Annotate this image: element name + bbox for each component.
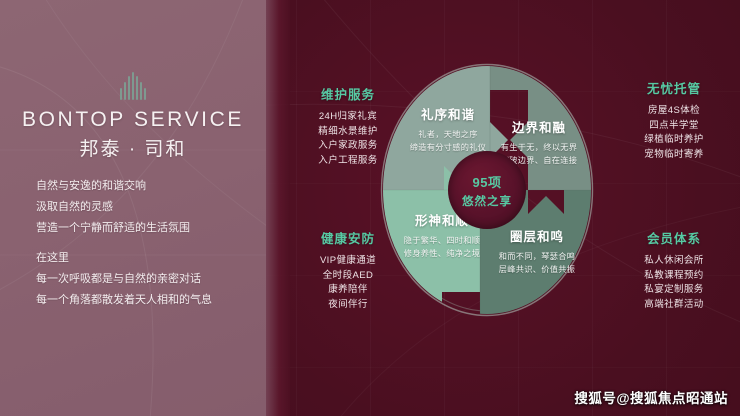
core-label: 悠然之享 bbox=[462, 193, 512, 209]
lead-paragraph: 自然与安逸的和谐交响 汲取自然的灵感 营造一个宁静而舒适的生活氛围 在这里 每一… bbox=[36, 176, 251, 311]
left-title-panel: BONTOP SERVICE 邦泰 · 司和 自然与安逸的和谐交响 汲取自然的灵… bbox=[0, 0, 266, 416]
pinwheel-diagram: 礼序和谐 礼者，天地之序 缔造有分寸感的礼仪 边界和融 有生于无，终以无界 打破… bbox=[378, 62, 596, 318]
bontop-bars-logo-icon bbox=[120, 72, 146, 100]
lead-spacer bbox=[36, 239, 251, 248]
service-item: 四点半学堂 bbox=[622, 119, 726, 134]
lead-line: 营造一个宁静而舒适的生活氛围 bbox=[36, 218, 251, 239]
lead-line: 每一次呼吸都是与自然的亲密对话 bbox=[36, 269, 251, 290]
service-item: 房屋4S体检 bbox=[622, 104, 726, 119]
service-group-wuyou: 无忧托管 房屋4S体检 四点半学堂 绿植临时养护 宠物临时寄养 bbox=[622, 78, 726, 162]
lead-line: 在这里 bbox=[36, 248, 251, 269]
slide-canvas: BONTOP SERVICE 邦泰 · 司和 自然与安逸的和谐交响 汲取自然的灵… bbox=[0, 0, 740, 416]
panel-seam-divider bbox=[266, 0, 290, 416]
watermark-text: 搜狐号@搜狐焦点昭通站 bbox=[574, 387, 728, 407]
lead-line: 汲取自然的灵感 bbox=[36, 197, 251, 218]
brand-title-cn: 邦泰 · 司和 bbox=[0, 134, 266, 161]
service-item: 私人休闲会所 bbox=[622, 254, 726, 269]
service-item: 私宴定制服务 bbox=[622, 283, 726, 298]
service-item: 私教课程预约 bbox=[622, 269, 726, 284]
service-group-title: 会员体系 bbox=[622, 228, 726, 247]
lead-line: 每一个角落都散发着天人相和的气息 bbox=[36, 290, 251, 311]
core-count: 95项 bbox=[473, 172, 502, 191]
service-group-title: 无忧托管 bbox=[622, 78, 726, 97]
lead-line: 自然与安逸的和谐交响 bbox=[36, 176, 251, 197]
service-item: 宠物临时寄养 bbox=[622, 148, 726, 163]
service-group-huiyuan: 会员体系 私人休闲会所 私教课程预约 私宴定制服务 高端社群活动 bbox=[622, 228, 726, 312]
brand-title-en: BONTOP SERVICE bbox=[0, 108, 266, 132]
diagram-core-circle: 95项 悠然之享 bbox=[448, 151, 526, 229]
service-item: 高端社群活动 bbox=[622, 298, 726, 313]
service-item: 绿植临时养护 bbox=[622, 133, 726, 148]
